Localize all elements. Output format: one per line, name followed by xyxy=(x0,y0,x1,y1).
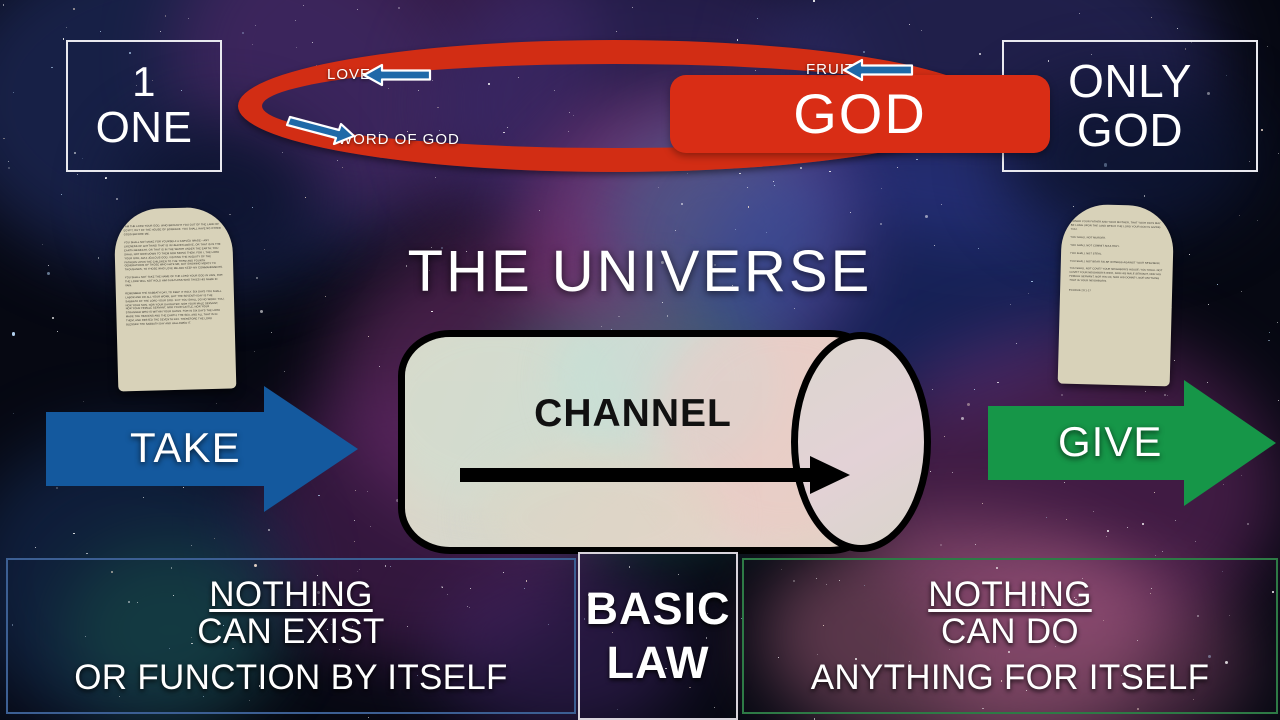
box-one: 1 ONE xyxy=(66,40,222,172)
channel-label: CHANNEL xyxy=(458,392,808,436)
god-label-box: GOD xyxy=(670,75,1050,153)
basic-law-box: BASIC LAW xyxy=(578,552,738,720)
fruit-arrow-left-icon xyxy=(842,57,914,83)
law-left-rest: CAN EXIST xyxy=(197,613,384,650)
channel-cylinder: CHANNEL xyxy=(398,330,958,540)
box-one-line2: ONE xyxy=(96,105,193,152)
slide-canvas: 1 ONE ONLY GOD GOD LOVE FRUIT WORD OF GO… xyxy=(0,0,1280,720)
box-only-god-line1: ONLY xyxy=(1068,57,1192,106)
law-right-line2: ANYTHING FOR ITSELF xyxy=(811,659,1210,696)
god-label-text: GOD xyxy=(793,86,927,142)
law-left-box: NOTHING CAN EXIST OR FUNCTION BY ITSELF xyxy=(6,558,576,714)
basic-law-line1: BASIC xyxy=(585,585,730,633)
law-right-line1: NOTHING CAN DO xyxy=(928,576,1091,650)
law-right-emphasis: NOTHING xyxy=(928,576,1091,613)
ring-label-word-of-god: WORD OF GOD xyxy=(338,131,460,148)
love-arrow-left-icon xyxy=(362,62,432,88)
law-left-emphasis: NOTHING xyxy=(197,576,384,613)
god-ring-diagram: GOD LOVE FRUIT WORD OF GOD xyxy=(238,40,990,172)
give-label: GIVE xyxy=(1058,418,1162,466)
word-of-god-arrow-right-icon xyxy=(284,115,356,145)
cylinder-end-cap xyxy=(791,332,931,552)
take-arrow: TAKE xyxy=(46,386,358,512)
take-label: TAKE xyxy=(130,424,241,472)
basic-law-line2: LAW xyxy=(607,639,710,687)
box-only-god-line2: GOD xyxy=(1077,106,1183,155)
law-right-rest: CAN DO xyxy=(928,613,1091,650)
page-title: THE UNIVERSE xyxy=(0,238,1280,305)
law-left-line2: OR FUNCTION BY ITSELF xyxy=(74,659,507,696)
law-right-box: NOTHING CAN DO ANYTHING FOR ITSELF xyxy=(742,558,1278,714)
channel-flow-arrow-icon xyxy=(460,456,850,494)
give-arrow: GIVE xyxy=(988,380,1276,506)
box-one-line1: 1 xyxy=(132,60,156,105)
law-left-line1: NOTHING CAN EXIST xyxy=(197,576,384,650)
